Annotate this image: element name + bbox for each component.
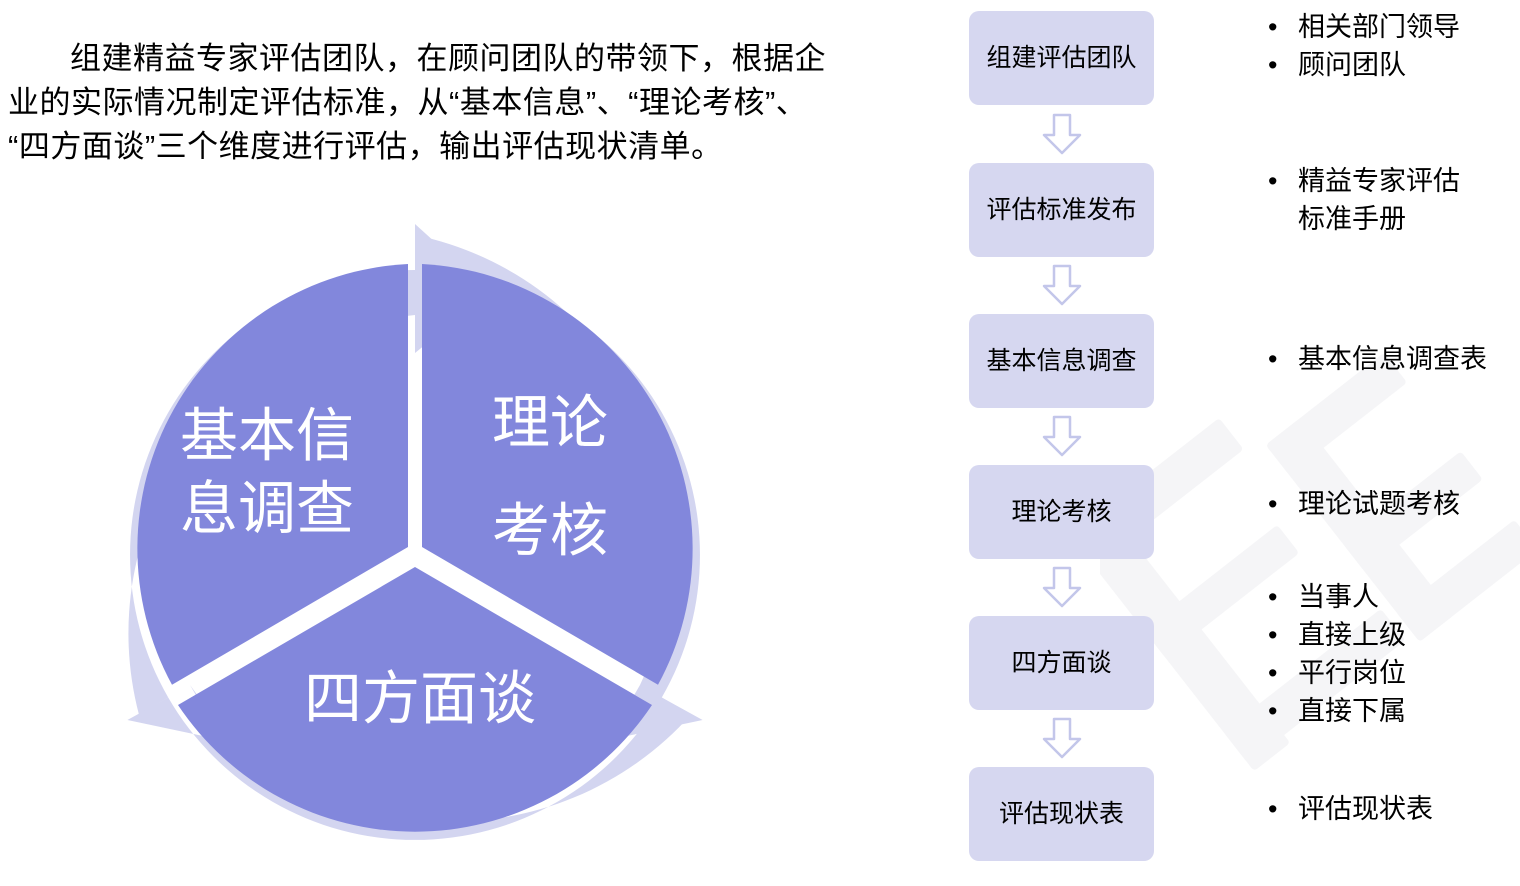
flow-chart: 组建评估团队 评估标准发布 基本信息调查 理论考核 四方面谈 bbox=[969, 0, 1154, 886]
bullet-icon: • bbox=[1268, 162, 1298, 200]
cycle-label-theory-exam-line1: 理论 bbox=[492, 390, 608, 455]
down-arrow-icon bbox=[1041, 717, 1083, 759]
flow-step-four-party[interactable]: 四方面谈 bbox=[969, 616, 1154, 710]
list-item: • 基本信息调查表 bbox=[1268, 340, 1520, 378]
bullet-icon: • bbox=[1268, 616, 1298, 654]
list-item: • 精益专家评估 bbox=[1268, 162, 1520, 200]
flow-step-label: 评估标准发布 bbox=[986, 194, 1136, 227]
intro-paragraph: 组建精益专家评估团队，在顾问团队的带领下，根据企业的实际情况制定评估标准，从“基… bbox=[8, 37, 838, 169]
down-arrow-icon bbox=[1041, 415, 1083, 457]
bullet-icon: • bbox=[1268, 485, 1298, 523]
note-group-theory-exam: • 理论试题考核 bbox=[1268, 485, 1520, 523]
flow-step-label: 四方面谈 bbox=[1011, 647, 1111, 680]
cycle-label-basic-info-line1: 基本信 bbox=[180, 403, 354, 468]
note-text: 顾问团队 bbox=[1298, 46, 1520, 84]
note-text: 直接下属 bbox=[1298, 692, 1520, 730]
down-arrow-icon bbox=[1041, 113, 1083, 155]
note-text: 理论试题考核 bbox=[1298, 485, 1520, 523]
bullet-icon: • bbox=[1268, 790, 1298, 828]
list-item: • 平行岗位 bbox=[1268, 654, 1520, 692]
bullet-icon: • bbox=[1268, 46, 1298, 84]
note-text: 平行岗位 bbox=[1298, 654, 1520, 692]
cycle-label-basic-info-line2: 息调查 bbox=[180, 476, 354, 541]
note-text: 相关部门领导 bbox=[1298, 8, 1520, 46]
list-item: • 理论试题考核 bbox=[1268, 485, 1520, 523]
bullet-icon: • bbox=[1268, 8, 1298, 46]
note-group-build-team: • 相关部门领导 • 顾问团队 bbox=[1268, 8, 1520, 84]
note-group-status-table: • 评估现状表 bbox=[1268, 790, 1520, 828]
cycle-label-theory-exam-line2: 考核 bbox=[492, 498, 608, 563]
bullet-icon: • bbox=[1268, 578, 1298, 616]
flow-step-basic-survey[interactable]: 基本信息调查 bbox=[969, 314, 1154, 408]
bullet-icon: • bbox=[1268, 654, 1298, 692]
note-text: 标准手册 bbox=[1298, 200, 1520, 238]
cycle-label-four-party-line1: 四方面谈 bbox=[304, 666, 536, 731]
cycle-diagram: 基本信 息调查 理论 考核 四方面谈 bbox=[70, 195, 770, 885]
list-item: • 当事人 bbox=[1268, 578, 1520, 616]
flow-step-label: 评估现状表 bbox=[999, 798, 1124, 831]
down-arrow-icon bbox=[1041, 264, 1083, 306]
flow-step-status-table[interactable]: 评估现状表 bbox=[969, 767, 1154, 861]
bullet-icon: • bbox=[1268, 692, 1298, 730]
flow-step-publish-standard[interactable]: 评估标准发布 bbox=[969, 163, 1154, 257]
list-item-continuation: 标准手册 bbox=[1268, 200, 1520, 238]
note-text: 精益专家评估 bbox=[1298, 162, 1520, 200]
flow-step-label: 基本信息调查 bbox=[986, 345, 1136, 378]
down-arrow-icon bbox=[1041, 566, 1083, 608]
flow-step-theory-exam[interactable]: 理论考核 bbox=[969, 465, 1154, 559]
bullet-icon: • bbox=[1268, 340, 1298, 378]
note-text: 直接上级 bbox=[1298, 616, 1520, 654]
flow-step-label: 组建评估团队 bbox=[986, 42, 1136, 75]
list-item: • 评估现状表 bbox=[1268, 790, 1520, 828]
list-item: • 顾问团队 bbox=[1268, 46, 1520, 84]
note-group-basic-survey: • 基本信息调查表 bbox=[1268, 340, 1520, 378]
list-item: • 相关部门领导 bbox=[1268, 8, 1520, 46]
note-text: 基本信息调查表 bbox=[1298, 340, 1520, 378]
note-text: 评估现状表 bbox=[1298, 790, 1520, 828]
note-group-four-party: • 当事人 • 直接上级 • 平行岗位 • 直接下属 bbox=[1268, 578, 1520, 730]
flow-step-label: 理论考核 bbox=[1011, 496, 1111, 529]
note-text: 当事人 bbox=[1298, 578, 1520, 616]
flow-step-build-team[interactable]: 组建评估团队 bbox=[969, 11, 1154, 105]
note-group-publish-standard: • 精益专家评估 标准手册 bbox=[1268, 162, 1520, 238]
list-item: • 直接上级 bbox=[1268, 616, 1520, 654]
list-item: • 直接下属 bbox=[1268, 692, 1520, 730]
notes-list: • 相关部门领导 • 顾问团队 • 精益专家评估 标准手册 • 基本信息调查表 … bbox=[1268, 0, 1520, 886]
